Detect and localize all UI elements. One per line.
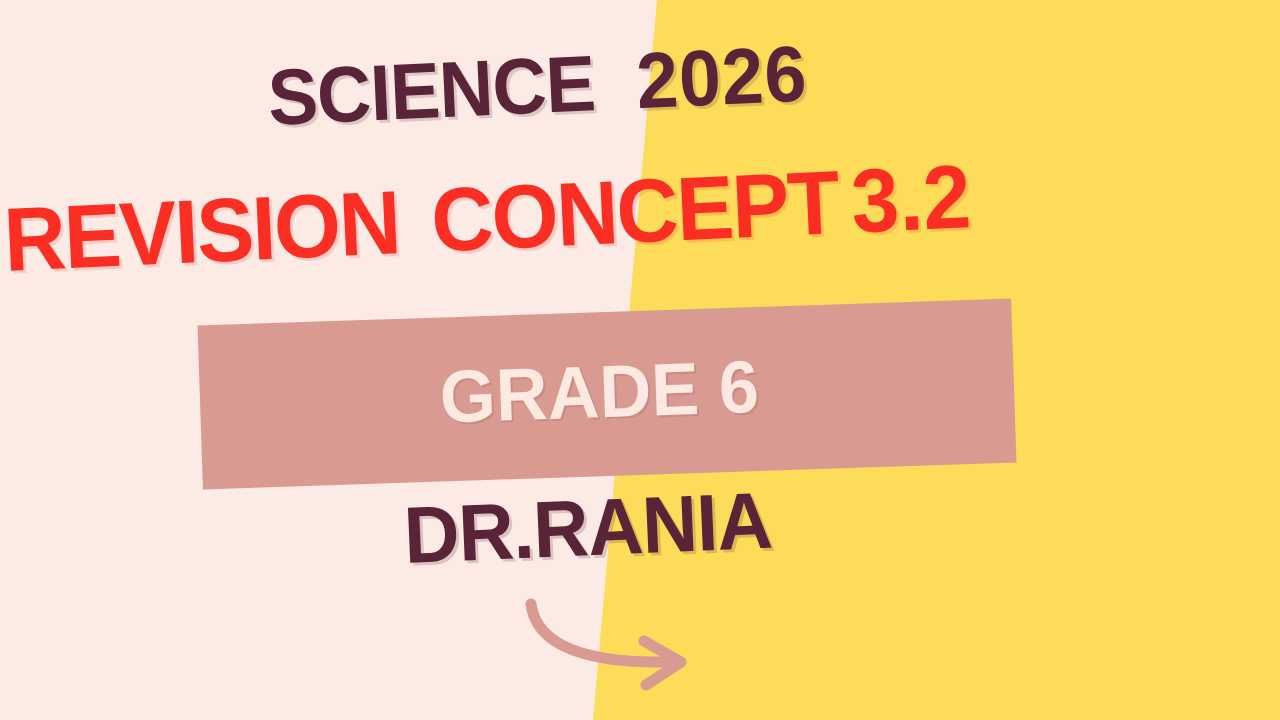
word-gap — [400, 252, 432, 253]
revision-text: REVISION — [2, 173, 402, 291]
concept-number-text: 3.2 — [849, 147, 973, 252]
year-text: 2026 — [634, 29, 809, 126]
word-gap — [596, 108, 638, 110]
grade-banner-label: GRADE 6 — [438, 350, 759, 435]
poster-canvas: SCIENCE2026 REVISIONCONCEPT3.2 GRADE 6 D… — [0, 0, 1280, 720]
grade-banner: GRADE 6 — [198, 299, 1017, 490]
subject-text: SCIENCE — [266, 38, 597, 142]
presenter-name: DR.RANIA — [402, 481, 773, 576]
concept-text: CONCEPT — [429, 153, 840, 271]
word-gap — [839, 232, 852, 233]
